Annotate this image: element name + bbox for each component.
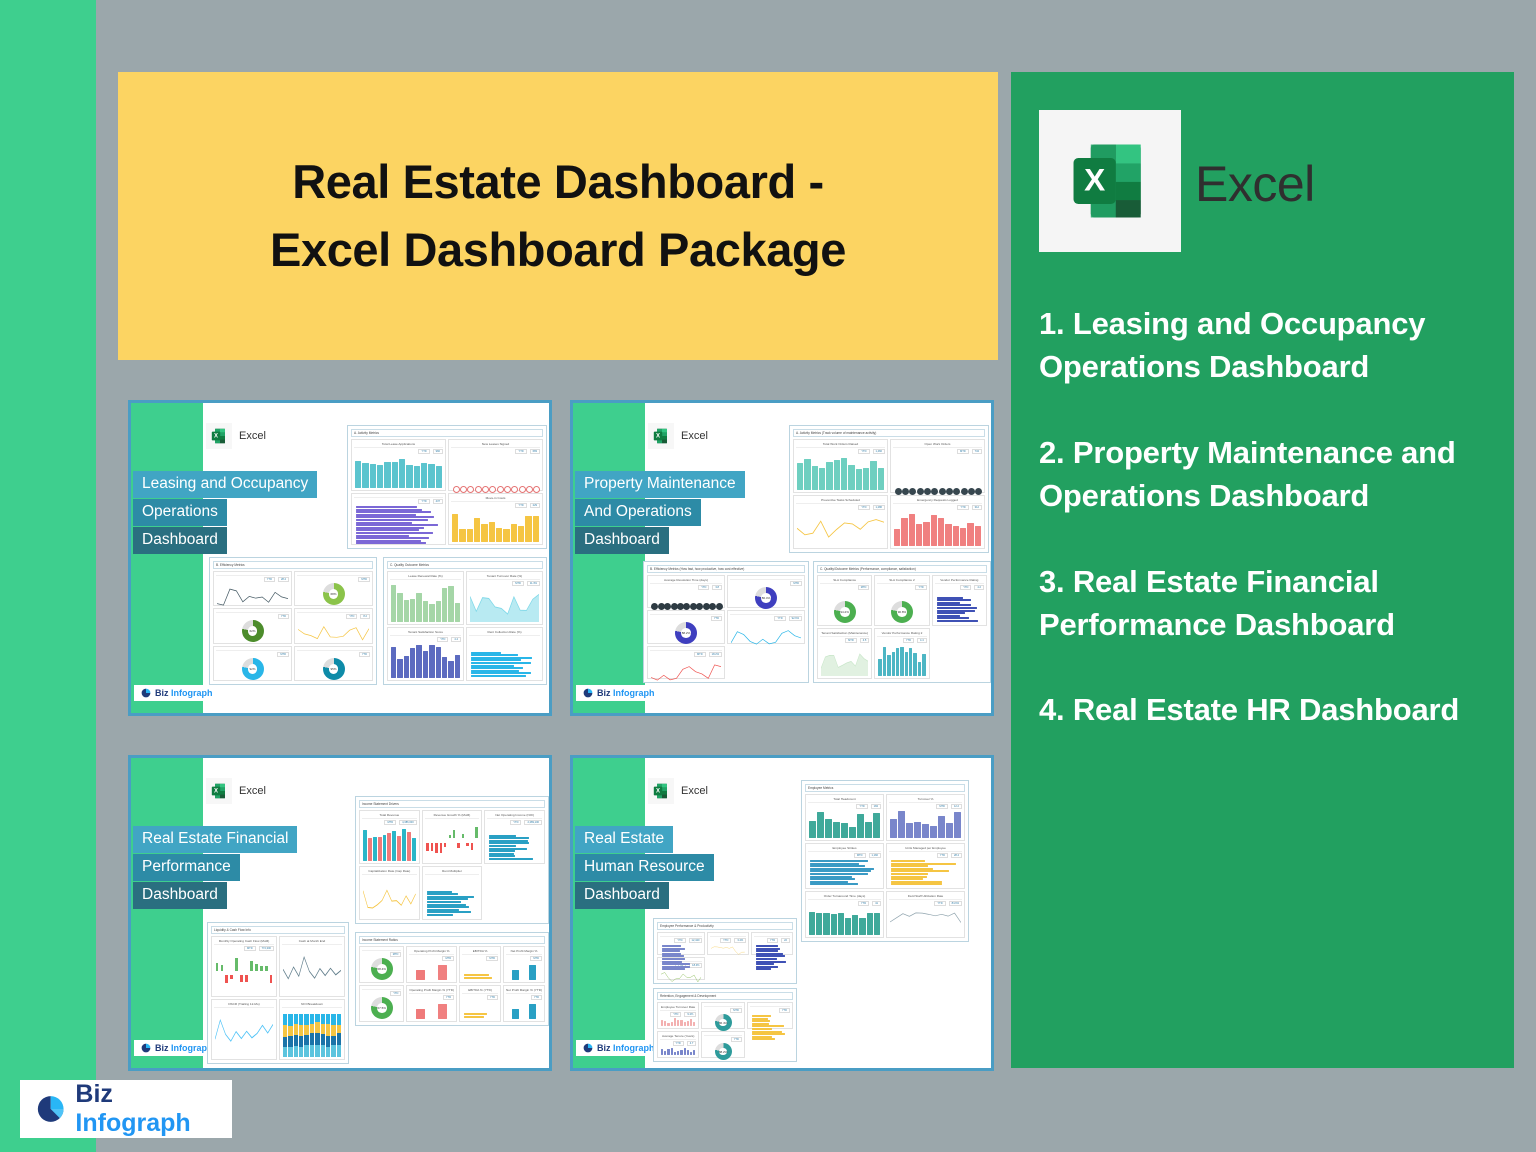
watermark-infograph: Infograph: [613, 1043, 655, 1053]
panel-group-title: Retention, Engagement & Development: [657, 992, 793, 1000]
hbar: [810, 883, 858, 885]
donut-hole: 62%: [248, 626, 258, 636]
line-chart: [661, 969, 701, 985]
bar: [857, 814, 864, 838]
bar: [833, 822, 840, 838]
bar: [452, 514, 458, 542]
kpi-box: YTD: [915, 585, 926, 590]
kpi-box: 437: [433, 499, 443, 504]
waterfall-bar: [249, 952, 253, 994]
kpi-box: YTD: [390, 991, 401, 996]
donut-wrap: 88.2%: [651, 622, 721, 644]
mini-chart-title: Open Work Orders: [893, 442, 982, 448]
hbar: [756, 968, 771, 970]
bar: [459, 529, 465, 542]
mini-chart-kpis: MTD4,386,000: [362, 820, 417, 825]
bar: [392, 831, 396, 861]
bar: [392, 462, 398, 488]
stack-segment: [294, 1035, 298, 1046]
donut-hole: 68%: [329, 589, 339, 599]
mini-chart: Order Turnaround Time (days)YTD41: [805, 891, 884, 938]
dashboard-list-item-2[interactable]: 2. Property Maintenance and Operations D…: [1039, 431, 1486, 518]
kpi-box: 982: [433, 449, 443, 454]
thumbnail-excel-icon: X: [206, 423, 232, 449]
mini-chart: Revenue per EmployeeYTD12,420: [657, 932, 705, 955]
thumbnail-watermark-text: Biz Infograph: [155, 1043, 213, 1053]
mini-chart: Occupancy Rate (%)MTD92%: [213, 646, 292, 681]
stack-segment: [326, 1047, 330, 1057]
thumbnail-title-row: Dashboard: [575, 882, 714, 910]
mini-chart-title: Preventive Tasks Scheduled: [796, 498, 885, 504]
bar: [378, 837, 382, 861]
pie-chart-icon: [141, 1043, 151, 1053]
waterfall-bar: [225, 952, 229, 994]
dashboard-panel-group: Retention, Engagement & DevelopmentEmplo…: [653, 988, 797, 1062]
svg-text:X: X: [656, 789, 660, 795]
hbar: [489, 837, 529, 839]
mini-chart: Lease ExpirationsYTD437: [351, 493, 446, 545]
thumbnail-title-line-3: Dashboard: [133, 527, 227, 554]
kpi-box: 184: [871, 804, 881, 809]
mini-chart-kpis: YTD28.4: [216, 577, 289, 582]
kpi-box: YTD: [515, 503, 526, 508]
hbar: [891, 878, 923, 880]
dashboard-list-item-4[interactable]: 4. Real Estate HR Dashboard: [1039, 688, 1486, 731]
mini-chart: Tenant Satisfaction (Maintenance)MTD4.5: [817, 628, 872, 679]
thumbnail-excel-icon: X: [206, 778, 232, 804]
bar: [923, 522, 929, 547]
kpi-box: MTD: [790, 581, 802, 586]
thumbnail-title-row: Dashboard: [133, 882, 297, 910]
mini-chart-title: Training Completion Rate: [704, 1005, 742, 1007]
mini-chart: Field Staff Utilization RateYTD84.6%: [886, 891, 965, 938]
kpi-box: MTD: [530, 956, 542, 961]
mini-chart-title: Training Hours per Employee: [750, 1005, 790, 1007]
mini-chart: Revenue Growth % (MoM): [422, 810, 483, 864]
thumbnail-title-line-3: Dashboard: [133, 882, 227, 909]
svg-text:X: X: [214, 434, 218, 440]
thumbnail-title-row: Human Resource: [575, 854, 714, 882]
waterfall-segment: [245, 975, 248, 982]
bar: [870, 461, 876, 490]
panel-group-title: Income Statement Drivers: [359, 800, 545, 808]
mini-chart-kpis: MTD: [704, 1008, 742, 1013]
bar: [467, 529, 473, 542]
mini-chart-kpis: MTD: [216, 652, 289, 657]
thumbnail-excel-brand: XExcel: [206, 778, 266, 804]
kpi-box: YTD: [779, 1008, 790, 1013]
title-banner: Real Estate Dashboard - Excel Dashboard …: [118, 72, 998, 360]
mini-chart-kpis: YTD683: [451, 449, 540, 454]
bar: [909, 514, 915, 546]
mini-chart-kpis: MTD: [462, 956, 498, 961]
bar: [363, 830, 367, 861]
mini-chart-plot: [425, 820, 480, 861]
mini-chart: Total HeadcountYTD184: [805, 794, 884, 841]
donut-chart: 88.2%: [675, 622, 697, 644]
kpi-box: YTD: [674, 938, 685, 943]
kpi-box: YTD: [531, 995, 542, 1000]
donut-hole: 86.4%: [719, 1019, 727, 1027]
kpi-box: 8.2: [360, 614, 370, 619]
bar: [841, 823, 848, 837]
hbar: [891, 860, 925, 862]
watermark-biz: Biz: [597, 1043, 611, 1053]
kpi-box: YTD: [278, 614, 289, 619]
kpi-box: YTD: [510, 820, 521, 825]
bar: [671, 1048, 673, 1055]
bar: [412, 838, 416, 861]
bar: [938, 816, 945, 838]
mini-chart: Maintenance Cost per Unit 2YTD88.2%: [647, 610, 725, 643]
panel-group-title: C. Quality Outcome Metrics: [387, 561, 543, 569]
stacked-bar: [288, 1014, 292, 1057]
stack-segment: [337, 1014, 341, 1025]
kpi-box: YTD: [858, 449, 869, 454]
waterfall-bar: [240, 952, 244, 994]
thumbnail-green-strip: [131, 403, 203, 713]
bar: [865, 822, 872, 837]
bar: [416, 593, 421, 622]
mini-chart-title: Total Revenue: [362, 813, 417, 819]
kpi-box: MTD: [358, 577, 370, 582]
donut-wrap: 88.2%: [705, 1043, 741, 1060]
kpi-box: MTD: [694, 652, 706, 657]
stack-segment: [288, 1047, 292, 1057]
mini-chart-plot: [889, 859, 962, 887]
mini-chart-plot: [506, 1001, 542, 1019]
footer-logo-biz: Biz: [75, 1080, 113, 1108]
stack-segment: [310, 1045, 314, 1057]
kpi-box: 12,420: [689, 938, 703, 943]
panel-group-grid: Gross Profit Margin %MTD68.4%Operating P…: [359, 946, 545, 1022]
bar: [414, 466, 420, 488]
donut-chart: 86.4%: [715, 1014, 732, 1031]
mini-chart: Net Profit Margin % (YTD)YTD: [503, 985, 545, 1022]
donut-hole: 94.2%: [840, 607, 850, 617]
svg-text:X: X: [656, 434, 660, 440]
panel-group-grid: SLA ComplianceMTD94.2%SLA Compliance 2YT…: [817, 575, 987, 679]
line-chart: [651, 658, 721, 686]
bar: [518, 526, 524, 543]
donut-chart: 92%: [242, 658, 264, 680]
bar: [429, 645, 434, 678]
donut-chart: 88.2%: [715, 1043, 732, 1060]
mini-chart-plot: [362, 826, 417, 861]
donut-chart: 94.2%: [834, 601, 856, 623]
hbar: [464, 1016, 484, 1018]
kpi-box: 28.4: [278, 577, 289, 582]
waterfall-segment: [216, 963, 219, 970]
bar: [887, 655, 890, 676]
bar: [823, 913, 829, 935]
dashboard-thumbnail-financial-performance[interactable]: XExcelReal Estate FinancialPerformanceDa…: [128, 755, 552, 1071]
dashboard-list-item-3[interactable]: 3. Real Estate Financial Performance Das…: [1039, 560, 1486, 647]
mini-chart: Overtime Hours per FTEYTD22: [751, 932, 793, 955]
mini-chart-title: DSCR (Trailing 12-Mo): [214, 1002, 274, 1008]
bar: [901, 518, 907, 546]
kpi-box: 229: [530, 503, 540, 508]
waterfall-bar: [230, 952, 234, 994]
stack-segment: [310, 1024, 314, 1033]
donut-hole: 86.4%: [761, 593, 771, 603]
dashboard-list-item-1[interactable]: 1. Leasing and Occupancy Operations Dash…: [1039, 302, 1486, 389]
kpi-box: YTD: [960, 585, 971, 590]
mini-chart-kpis: YTD4.2: [935, 585, 984, 590]
kpi-box: 683: [530, 449, 540, 454]
mini-chart: SLA Compliance 2YTD90.8%: [874, 575, 929, 626]
thumbnail-excel-label: Excel: [239, 430, 266, 442]
excel-wordmark: Excel: [1195, 155, 1315, 213]
mini-chart-plot: [877, 644, 926, 676]
bar: [826, 462, 832, 490]
thumbnail-title-line-3: Dashboard: [575, 527, 669, 554]
mini-chart-title: Employee Turnover Rate: [660, 1005, 696, 1011]
line-chart: [363, 876, 416, 917]
dashboard-thumbnail-property-maintenance[interactable]: XExcelProperty MaintenanceAnd Operations…: [570, 400, 994, 716]
donut-wrap: 90.8%: [878, 601, 925, 623]
dashboard-panel-group: Employee Performance & ProductivityReven…: [653, 918, 797, 984]
mini-chart-title: Employee Strikes: [808, 846, 881, 852]
mini-chart-title: Tenant Satisfaction Score: [390, 630, 461, 636]
thumbnail-title-line-2: Operations: [133, 499, 227, 526]
waterfall-segment: [435, 843, 437, 854]
mini-chart: EBITDA % (YTD)YTD: [459, 985, 501, 1022]
mini-chart-kpis: YTD12,420: [660, 938, 702, 943]
mini-chart-plot: [808, 907, 881, 935]
kpi-box: 92.6%: [789, 616, 802, 621]
donut-chart: 95%: [323, 658, 345, 680]
waterfall-bar: [259, 952, 263, 994]
bar: [954, 812, 961, 837]
waterfall-segment: [475, 827, 477, 839]
bar: [373, 837, 377, 861]
thumbnail-title-line-1: Real Estate: [575, 826, 673, 853]
hbar: [356, 519, 428, 521]
mini-chart: Lease Conversion Rate (%)MTD68%: [294, 571, 373, 606]
dashboard-panel-group: B. Efficiency Metrics (How fast, how pro…: [643, 561, 809, 683]
mini-chart-kpis: MTD: [820, 585, 869, 590]
panel-group-title: Employee Performance & Productivity: [657, 922, 793, 930]
mini-chart-title: Average Resolution Time (days): [650, 578, 722, 584]
mini-chart-plot: [796, 455, 885, 490]
bar: [416, 645, 421, 678]
thumbnail-title-row: Operations: [133, 499, 317, 527]
hbar: [937, 607, 977, 609]
donut-chart: 68.4%: [371, 958, 393, 980]
mini-chart-plot: 62%: [216, 620, 289, 642]
mini-chart: Cash at Month End: [279, 936, 345, 997]
stack-segment: [304, 1045, 308, 1057]
thumbnail-title-row: And Operations: [575, 499, 745, 527]
stack-segment: [315, 1014, 319, 1022]
hbar-group: [355, 505, 442, 545]
hbar: [427, 906, 469, 908]
waterfall-segment: [449, 835, 451, 839]
bar: [421, 463, 427, 488]
kpi-box: YTD: [670, 1012, 681, 1017]
mini-chart-title: Lease Renewal Rate (%): [390, 574, 461, 580]
mini-chart-plot: [282, 1009, 342, 1057]
hbar: [756, 950, 778, 952]
mini-chart: Rent Collection Rate (%): [466, 627, 543, 681]
waterfall-segment: [270, 975, 273, 983]
mini-chart-plot: [425, 876, 480, 917]
donut-wrap: 86.4%: [705, 1014, 741, 1031]
mini-chart: Operating Profit Margin %MTD: [406, 946, 457, 983]
panel-group-title: Income Statement Ratios: [359, 936, 545, 944]
bar: [368, 838, 372, 861]
mini-chart-kpis: MTD4.5: [820, 638, 869, 643]
panel-group-grid: Employee Turnover RateYTD9.2%Training Co…: [657, 1002, 793, 1058]
mini-chart-plot: [390, 581, 461, 622]
mini-chart-plot: 67.5%: [362, 997, 401, 1019]
watermark-biz: Biz: [155, 688, 169, 698]
mini-chart-plot: [893, 455, 982, 490]
bar: [387, 833, 391, 861]
bar: [674, 1052, 676, 1055]
thumbnail-title-line-1: Leasing and Occupancy: [133, 471, 317, 498]
bar: [896, 648, 899, 676]
mini-chart-title: New Leases Signed: [451, 442, 540, 448]
hbar: [427, 893, 459, 895]
mini-chart: Operating Profit Margin % (YTD)YTD: [406, 985, 457, 1022]
donut-chart: 86.4%: [755, 587, 777, 609]
hbar: [937, 612, 965, 614]
bar: [838, 913, 844, 935]
kpi-box: 4.5: [860, 638, 870, 643]
mini-chart-kpis: YTD1,286: [796, 505, 885, 510]
stack-segment: [321, 1014, 325, 1024]
mini-chart: Average Response Time (hours)MTD18.2%: [647, 646, 725, 679]
mini-chart-kpis: YTD229: [451, 503, 540, 508]
bar: [953, 526, 959, 546]
bar: [664, 1051, 666, 1055]
bar: [671, 1022, 673, 1026]
kpi-box: YTD: [515, 449, 526, 454]
bar: [918, 662, 921, 676]
hbar: [756, 945, 778, 947]
bar: [448, 586, 453, 622]
hbar: [810, 878, 855, 880]
stack-segment: [299, 1025, 303, 1036]
mini-chart-title: Lease Expirations: [354, 496, 443, 498]
bar: [511, 524, 517, 542]
mini-chart-title: Revenue per Employee: [660, 935, 702, 937]
bar: [397, 659, 402, 678]
bar: [849, 827, 856, 838]
stacked-bar: [304, 1014, 308, 1057]
bar: [423, 601, 428, 622]
stacked-bar: [321, 1014, 325, 1057]
waterfall-bar: [235, 952, 239, 994]
kpi-box: 9.2%: [684, 1012, 696, 1017]
waterfall-segment: [466, 843, 468, 847]
donut-hole: 67.5%: [377, 1003, 387, 1013]
mini-chart-title: Maintenance Cost per Unit: [730, 578, 802, 580]
kpi-box: YTD: [487, 995, 498, 1000]
mini-chart-title: Revenue Growth % (MoM): [425, 813, 480, 819]
mini-chart-plot: [451, 509, 540, 542]
mini-chart-plot: [462, 1001, 498, 1019]
kpi-box: 312: [972, 505, 982, 510]
mini-chart: Preventive Tasks Completion Rate (%)YTD9…: [727, 610, 805, 643]
hbar: [464, 977, 492, 979]
mini-chart: Monthly Operating Cash Flow (MoM)MTD772,…: [211, 936, 277, 997]
dashboard-thumbnail-human-resource[interactable]: XExcelReal EstateHuman ResourceDashboard…: [570, 755, 994, 1071]
panel-group-title: Liquidity & Cash Flow Info: [211, 926, 345, 934]
stack-segment: [331, 1045, 335, 1057]
waterfall-bar: [452, 820, 455, 861]
bar: [402, 829, 406, 861]
waterfall-bar: [426, 820, 429, 861]
mini-chart-kpis: YTD92.6%: [730, 616, 802, 621]
bar: [922, 824, 929, 838]
bar: [906, 823, 913, 838]
paired-bar: [416, 970, 425, 980]
bar: [883, 647, 886, 676]
mini-chart-plot: [297, 620, 370, 648]
dashboard-thumbnail-leasing-occupancy[interactable]: XExcelLeasing and OccupancyOperationsDas…: [128, 400, 552, 716]
stack-segment: [326, 1024, 330, 1035]
kpi-box: YTD: [346, 614, 357, 619]
bar: [687, 1021, 689, 1026]
bar: [930, 826, 937, 838]
mini-chart-kpis: MTD12.2: [889, 804, 962, 809]
hbar-group: [751, 1014, 789, 1041]
donut-wrap: 95%: [298, 658, 369, 680]
bar: [391, 647, 396, 678]
thumbnail-title-line-1: Property Maintenance: [575, 471, 745, 498]
stack-segment: [294, 1014, 298, 1025]
mini-chart-kpis: YTD: [704, 1037, 742, 1042]
stack-segment: [304, 1035, 308, 1044]
stack-segment: [331, 1025, 335, 1036]
bar: [677, 1051, 679, 1055]
waterfall-segment: [265, 966, 268, 971]
bar: [909, 648, 912, 676]
stack-segment: [283, 1025, 287, 1037]
mini-chart-kpis: MTD772,300: [214, 946, 274, 951]
line-chart: [217, 583, 288, 611]
mini-chart-kpis: MTD734: [893, 449, 982, 454]
bar: [474, 518, 480, 542]
bar: [922, 654, 925, 676]
mini-chart-title: Occupancy Rate (%) 2: [297, 649, 370, 651]
mini-chart-title: Tenant Turnover Rate (%): [469, 574, 540, 580]
waterfall-bar: [461, 820, 464, 861]
mini-chart: Net Profit Margin %MTD: [503, 946, 545, 983]
mini-chart: Gross Profit Margin %MTD68.4%: [359, 946, 404, 983]
page-title-line-2: Excel Dashboard Package: [270, 223, 846, 276]
panel-group-grid: Average Days on MarketYTD28.4Lease Conve…: [213, 571, 373, 681]
stack-segment: [331, 1036, 335, 1045]
svg-text:X: X: [1084, 162, 1105, 198]
mini-chart-kpis: YTD: [362, 991, 401, 996]
mini-chart-plot: 92%: [216, 658, 289, 680]
bar: [916, 524, 922, 546]
mini-chart-plot: [409, 1001, 454, 1019]
waterfall-segment: [240, 975, 243, 982]
pie-chart-icon: [141, 688, 151, 698]
thumbnail-title-row: Performance: [133, 854, 297, 882]
bar: [905, 652, 908, 676]
kpi-box: 4.4: [451, 637, 461, 642]
stacked-bar: [310, 1014, 314, 1057]
bar: [503, 529, 509, 542]
kpi-box: MTD: [936, 804, 948, 809]
hbar: [752, 1038, 775, 1040]
